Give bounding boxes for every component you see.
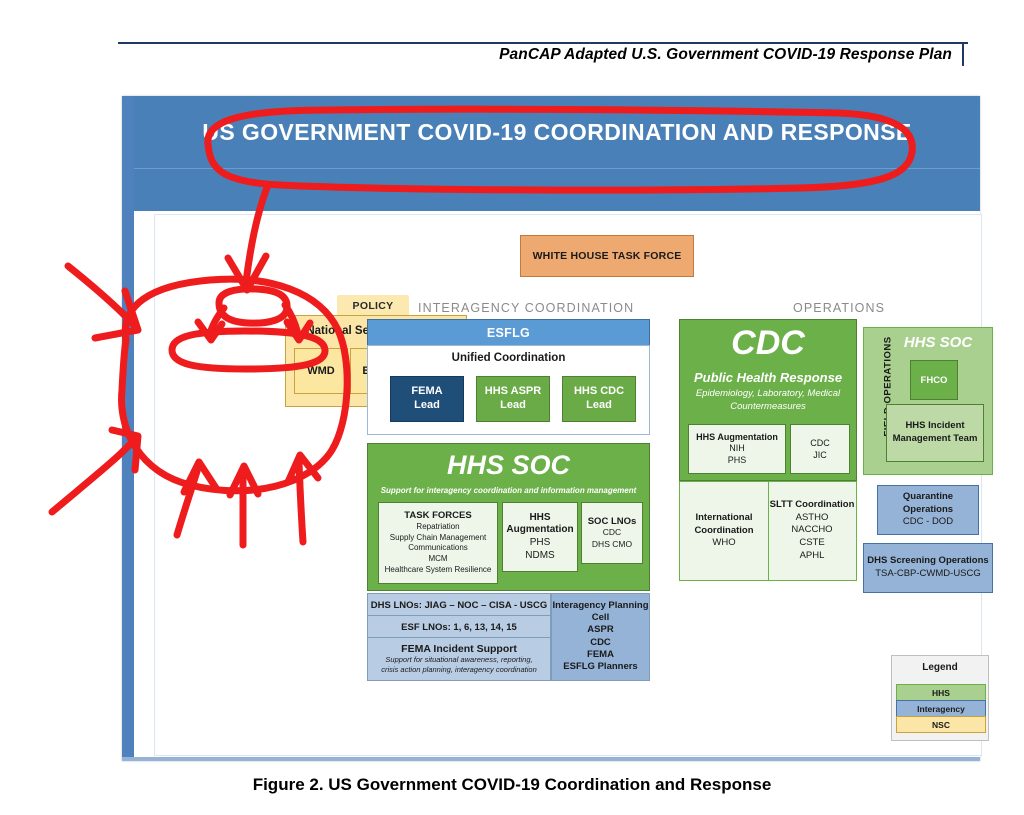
legend-title: Legend: [892, 662, 988, 673]
figure-bottom-bar: [122, 757, 980, 761]
lead-box-hhs-aspr: HHS ASPR Lead: [476, 376, 550, 422]
soc-card-2-line-1: DHS CMO: [592, 539, 632, 550]
lead-fema-line1: FEMA: [411, 385, 442, 399]
legend-box: Legend HHS Interagency NSC: [891, 655, 989, 741]
fema-incident-support-heading: FEMA Incident Support: [401, 643, 517, 655]
international-coordination-cell: International Coordination WHO: [680, 482, 769, 580]
soc-card-0-line-4: Healthcare System Resilience: [385, 565, 492, 576]
soc-card-0-line-2: Communications: [408, 543, 468, 554]
interagency-planning-cell-box: Interagency Planning Cell ASPR CDC FEMA …: [551, 593, 650, 681]
legend-row-nsc: NSC: [896, 716, 986, 733]
header-rule-top: [118, 42, 968, 44]
header-rule-right: [962, 42, 964, 66]
international-coordination-line-0: WHO: [712, 537, 735, 550]
cdc-card-0-line-1: PHS: [728, 454, 747, 466]
figure-caption: Figure 2. US Government COVID-19 Coordin…: [0, 775, 1024, 795]
fema-incident-support-line-0: Support for situational awareness, repor…: [385, 655, 532, 665]
hhs-soc-subtitle: Support for interagency coordination and…: [368, 486, 649, 495]
cdc-card-1-line-1: JIC: [813, 449, 827, 461]
hhs-incident-management-team-box: HHS Incident Management Team: [886, 404, 984, 462]
cdc-subtitle: Public Health Response: [680, 370, 856, 385]
lead-cdc-line1: HHS CDC: [574, 385, 624, 399]
lead-aspr-line1: HHS ASPR: [485, 385, 541, 399]
cdc-card-0-line-0: NIH: [729, 442, 745, 454]
unified-coordination-title: Unified Coordination: [368, 352, 649, 364]
sltt-line-2: CSTE: [799, 537, 824, 550]
figure-left-bar: [122, 96, 134, 761]
fema-incident-support-row: FEMA Incident Support Support for situat…: [367, 637, 551, 681]
sltt-line-3: APHL: [800, 550, 825, 563]
cdc-card-0-heading: HHS Augmentation: [696, 432, 778, 442]
cdc-card-1-line-0: CDC: [810, 437, 830, 449]
esflg-bar: ESFLG: [367, 319, 650, 347]
cdc-panel: CDC Public Health Response Epidemiology,…: [679, 319, 857, 481]
planning-cell-line-0: ASPR: [587, 624, 613, 636]
sltt-line-1: NACCHO: [791, 524, 832, 537]
international-coordination-heading: International Coordination: [680, 512, 768, 537]
lead-aspr-line2: Lead: [500, 399, 526, 413]
soc-card-1-heading: HHS Augmentation: [503, 512, 577, 536]
field-operations-title: HHS SOC: [888, 334, 988, 351]
figure-banner-title: US GOVERNMENT COVID-19 COORDINATION AND …: [134, 96, 980, 168]
nsc-item-wmd: WMD: [294, 348, 348, 394]
soc-card-0-heading: TASK FORCES: [404, 510, 471, 521]
column-heading-interagency: INTERAGENCY COORDINATION: [418, 301, 634, 315]
soc-card-soc-lnos: SOC LNOs CDC DHS CMO: [581, 502, 643, 564]
quarantine-line-0: CDC - DOD: [903, 516, 953, 529]
lead-fema-line2: Lead: [414, 399, 440, 413]
legend-row-interagency: Interagency: [896, 700, 986, 717]
esf-lnos-row: ESF LNOs: 1, 6, 13, 14, 15: [367, 615, 551, 639]
policy-label: POLICY: [337, 295, 409, 317]
soc-card-task-forces: TASK FORCES Repatriation Supply Chain Ma…: [378, 502, 498, 584]
lead-box-hhs-cdc: HHS CDC Lead: [562, 376, 636, 422]
field-operations-panel: FIELD OPERATIONS HHS SOC FHCO HHS Incide…: [863, 327, 993, 475]
unified-coordination-box: Unified Coordination FEMA Lead HHS ASPR …: [367, 345, 650, 435]
screenshot-root: PanCAP Adapted U.S. Government COVID-19 …: [0, 0, 1024, 815]
planning-cell-line-3: ESFLG Planners: [563, 661, 637, 673]
soc-card-0-line-1: Supply Chain Management: [390, 533, 487, 544]
cdc-card-hhs-augmentation: HHS Augmentation NIH PHS: [688, 424, 786, 474]
planning-cell-line-1: CDC: [590, 637, 611, 649]
planning-cell-heading: Interagency Planning Cell: [552, 600, 649, 624]
column-heading-operations: OPERATIONS: [793, 301, 885, 315]
figure-frame: US GOVERNMENT COVID-19 COORDINATION AND …: [122, 96, 980, 761]
planning-cell-line-2: FEMA: [587, 649, 614, 661]
sltt-line-0: ASTHO: [796, 512, 829, 525]
sltt-coordination-heading: SLTT Coordination: [770, 499, 855, 511]
lead-box-fema: FEMA Lead: [390, 376, 464, 422]
figure-banner: US GOVERNMENT COVID-19 COORDINATION AND …: [134, 96, 980, 168]
hhs-soc-title: HHS SOC: [368, 450, 649, 481]
soc-card-2-heading: SOC LNOs: [588, 516, 637, 527]
dhs-lnos-row: DHS LNOs: JIAG – NOC – CISA - USCG: [367, 593, 551, 617]
document-header-title: PanCAP Adapted U.S. Government COVID-19 …: [499, 46, 952, 64]
cdc-card-jic: CDC JIC: [790, 424, 850, 474]
operations-coordination-row: International Coordination WHO SLTT Coor…: [679, 481, 857, 581]
sltt-coordination-cell: SLTT Coordination ASTHO NACCHO CSTE APHL: [768, 482, 856, 580]
quarantine-operations-box: Quarantine Operations CDC - DOD: [877, 485, 979, 535]
dhs-screening-operations-box: DHS Screening Operations TSA-CBP-CWMD-US…: [863, 543, 993, 593]
white-house-task-force-box: WHITE HOUSE TASK FORCE: [520, 235, 694, 277]
legend-row-hhs: HHS: [896, 684, 986, 701]
figure-canvas: WHITE HOUSE TASK FORCE INTERAGENCY COORD…: [154, 214, 982, 756]
fhco-box: FHCO: [910, 360, 958, 400]
soc-card-1-line-0: PHS: [530, 536, 551, 550]
soc-card-hhs-augmentation: HHS Augmentation PHS NDMS: [502, 502, 578, 572]
figure-banner-subband: [134, 168, 980, 211]
cdc-title: CDC: [680, 326, 856, 360]
hhs-soc-panel: HHS SOC Support for interagency coordina…: [367, 443, 650, 591]
dhs-screening-line-0: TSA-CBP-CWMD-USCG: [875, 568, 981, 581]
soc-card-2-line-0: CDC: [603, 527, 621, 538]
fema-incident-support-line-1: crisis action planning, interagency coor…: [381, 665, 537, 675]
soc-card-1-line-1: NDMS: [525, 549, 554, 563]
lead-cdc-line2: Lead: [586, 399, 612, 413]
quarantine-heading: Quarantine Operations: [878, 491, 978, 516]
soc-card-0-line-3: MCM: [428, 554, 447, 565]
cdc-detail: Epidemiology, Laboratory, Medical Counte…: [680, 388, 856, 414]
soc-card-0-line-0: Repatriation: [416, 522, 459, 533]
dhs-screening-heading: DHS Screening Operations: [867, 555, 988, 567]
